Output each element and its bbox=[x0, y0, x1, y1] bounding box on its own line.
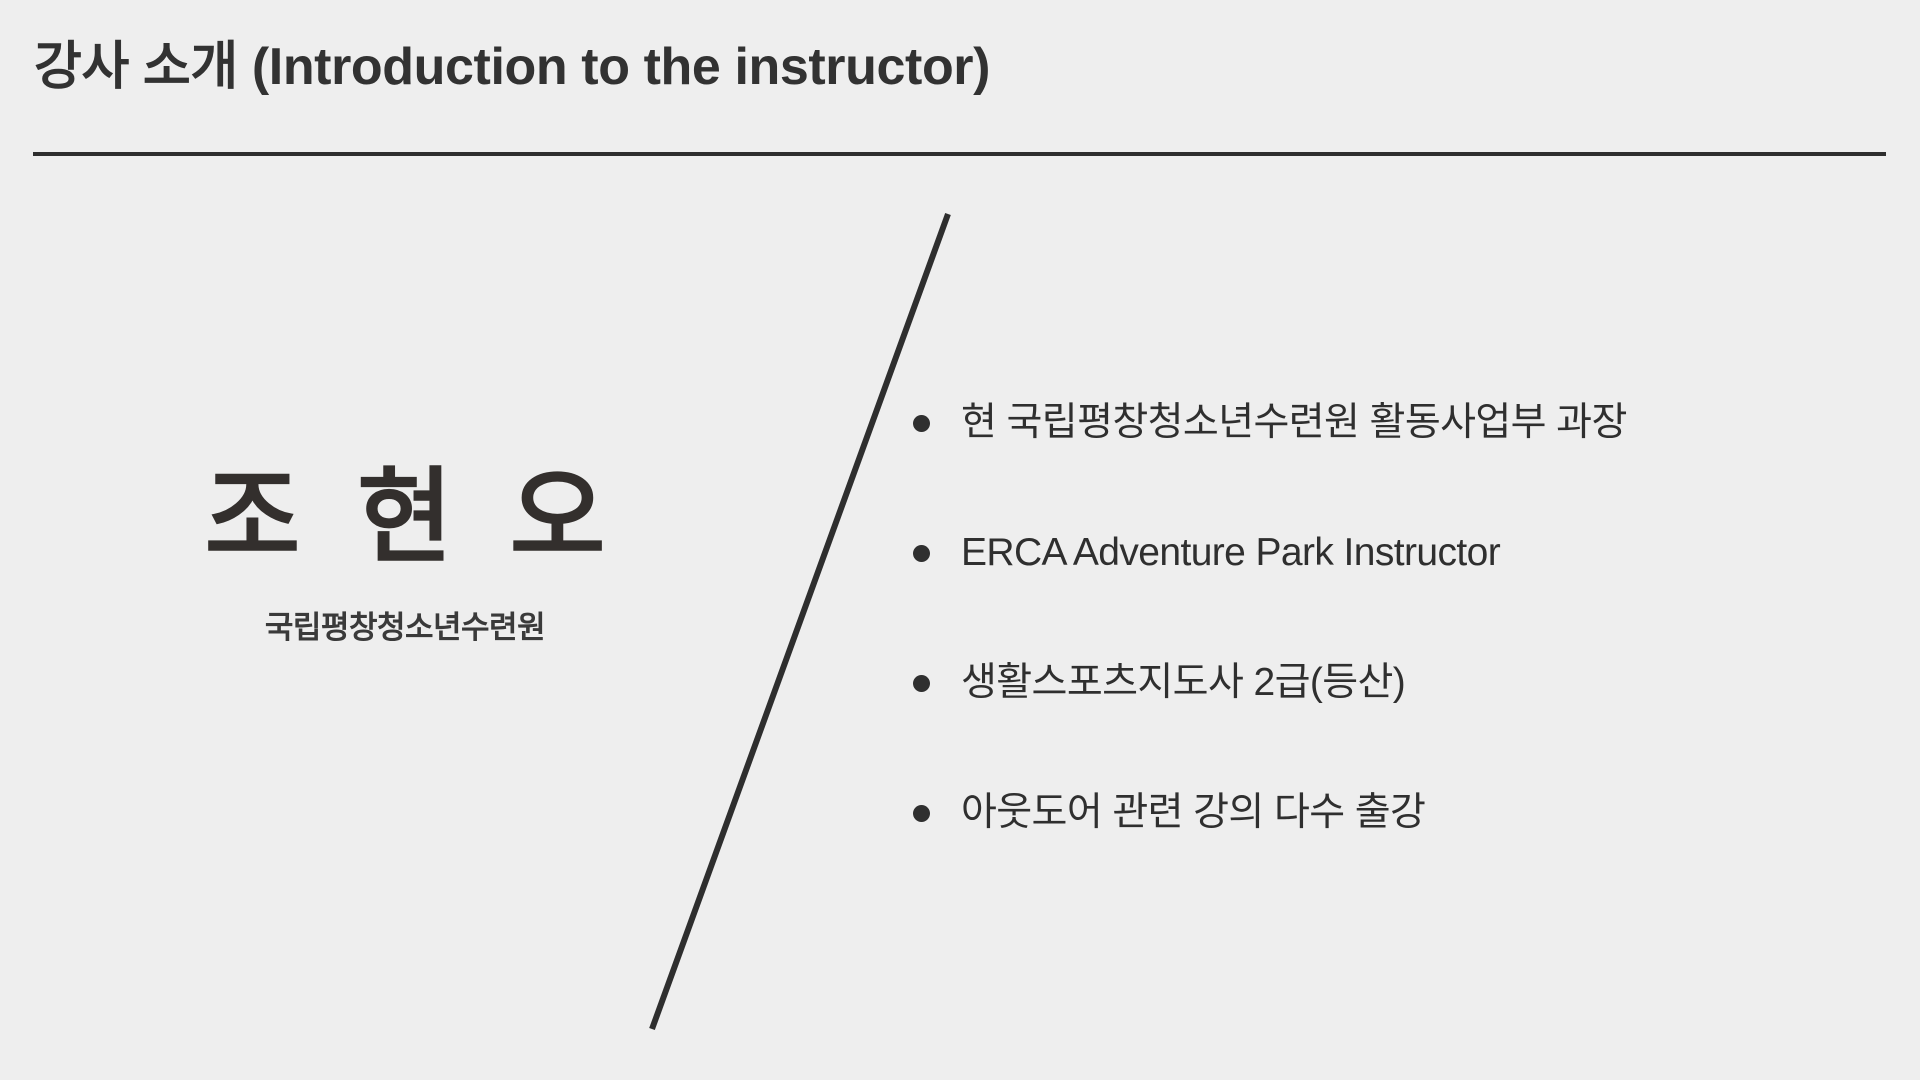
instructor-name: 조 현 오 bbox=[60, 460, 750, 576]
credential-list: 현 국립평창청소년수련원 활동사업부 과장 ERCA Adventure Par… bbox=[905, 392, 1885, 912]
instructor-profile: 조 현 오 국립평창청소년수련원 bbox=[60, 460, 750, 647]
bullet-icon bbox=[913, 675, 930, 692]
credential-text: ERCA Adventure Park Instructor bbox=[961, 531, 1500, 574]
bullet-icon bbox=[913, 415, 930, 432]
bullet-icon bbox=[913, 805, 930, 822]
page-title: 강사 소개 (Introduction to the instructor) bbox=[34, 38, 990, 98]
list-item: 생활스포츠지도사 2급(등산) bbox=[905, 652, 1885, 782]
list-item: 아웃도어 관련 강의 다수 출강 bbox=[905, 782, 1885, 912]
list-item: ERCA Adventure Park Instructor bbox=[905, 522, 1885, 652]
bullet-icon bbox=[913, 545, 930, 562]
title-divider bbox=[33, 152, 1886, 156]
slide-root: 강사 소개 (Introduction to the instructor) 조… bbox=[0, 0, 1920, 1080]
credential-text: 아웃도어 관련 강의 다수 출강 bbox=[961, 791, 1425, 834]
list-item: 현 국립평창청소년수련원 활동사업부 과장 bbox=[905, 392, 1885, 522]
credential-text: 생활스포츠지도사 2급(등산) bbox=[961, 661, 1405, 704]
credential-text: 현 국립평창청소년수련원 활동사업부 과장 bbox=[961, 401, 1627, 444]
instructor-affiliation: 국립평창청소년수련원 bbox=[60, 602, 750, 647]
